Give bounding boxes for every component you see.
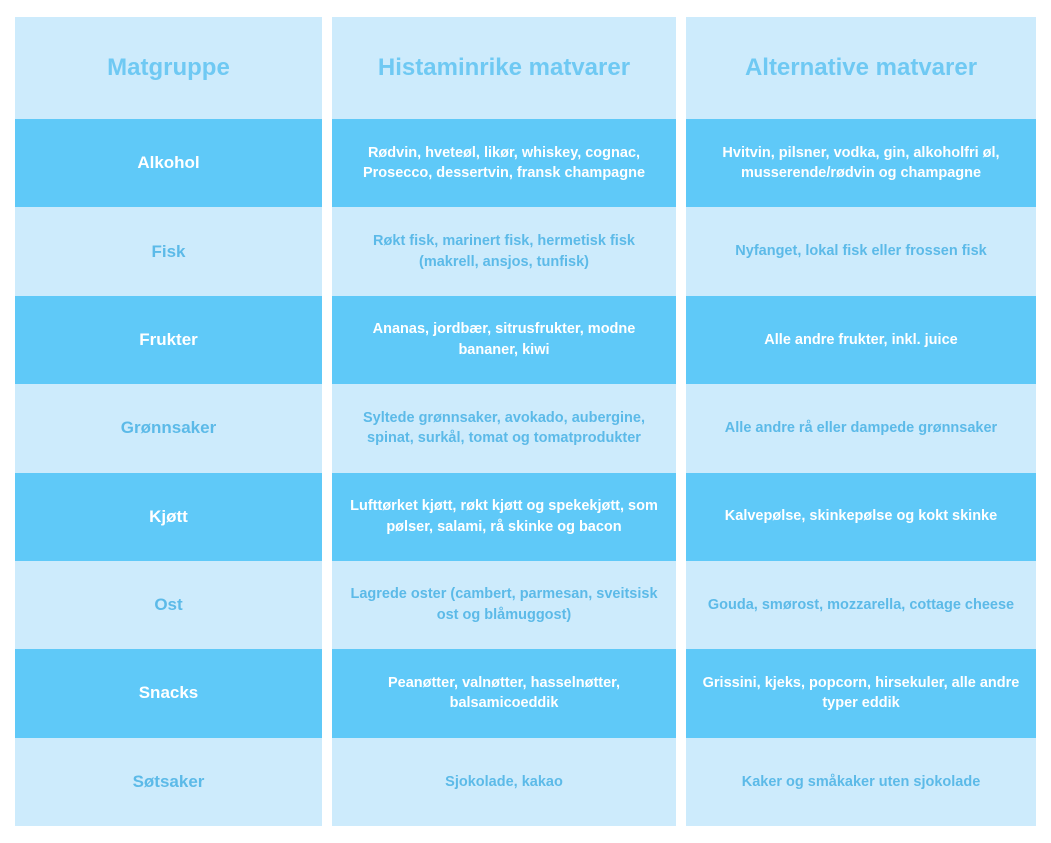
cell-alternative-snacks: Grissini, kjeks, popcorn, hirsekuler, al… [686, 649, 1036, 737]
cell-histamine-fisk: Røkt fisk, marinert fisk, hermetisk fisk… [332, 207, 676, 295]
cell-alternative-gronnsaker: Alle andre rå eller dampede grønnsaker [686, 384, 1036, 472]
cell-histamine-sotsaker: Sjokolade, kakao [332, 738, 676, 826]
histamine-food-table: Matgruppe Alkohol Fisk Frukter Grønnsake… [15, 17, 1036, 826]
column-alternative-matvarer: Alternative matvarer Hvitvin, pilsner, v… [686, 17, 1036, 826]
cell-histamine-gronnsaker: Syltede grønnsaker, avokado, aubergine, … [332, 384, 676, 472]
cell-alternative-ost: Gouda, smørost, mozzarella, cottage chee… [686, 561, 1036, 649]
column-header-histaminrike-matvarer: Histaminrike matvarer [332, 17, 676, 119]
cell-alternative-kjott: Kalvepølse, skinkepølse og kokt skinke [686, 473, 1036, 561]
cell-histamine-kjott: Lufttørket kjøtt, røkt kjøtt og spekekjø… [332, 473, 676, 561]
cell-group-kjott: Kjøtt [15, 473, 322, 561]
cell-group-ost: Ost [15, 561, 322, 649]
cell-histamine-frukter: Ananas, jordbær, sitrusfrukter, modne ba… [332, 296, 676, 384]
cell-group-fisk: Fisk [15, 207, 322, 295]
cell-group-frukter: Frukter [15, 296, 322, 384]
cell-alternative-sotsaker: Kaker og småkaker uten sjokolade [686, 738, 1036, 826]
cell-group-snacks: Snacks [15, 649, 322, 737]
cell-histamine-ost: Lagrede oster (cambert, parmesan, sveits… [332, 561, 676, 649]
cell-group-alkohol: Alkohol [15, 119, 322, 207]
column-header-alternative-matvarer: Alternative matvarer [686, 17, 1036, 119]
column-header-matgruppe: Matgruppe [15, 17, 322, 119]
cell-group-sotsaker: Søtsaker [15, 738, 322, 826]
column-matgruppe: Matgruppe Alkohol Fisk Frukter Grønnsake… [15, 17, 322, 826]
cell-histamine-alkohol: Rødvin, hveteøl, likør, whiskey, cognac,… [332, 119, 676, 207]
cell-alternative-alkohol: Hvitvin, pilsner, vodka, gin, alkoholfri… [686, 119, 1036, 207]
cell-histamine-snacks: Peanøtter, valnøtter, hasselnøtter, bals… [332, 649, 676, 737]
cell-alternative-frukter: Alle andre frukter, inkl. juice [686, 296, 1036, 384]
cell-alternative-fisk: Nyfanget, lokal fisk eller frossen fisk [686, 207, 1036, 295]
cell-group-gronnsaker: Grønnsaker [15, 384, 322, 472]
column-histaminrike-matvarer: Histaminrike matvarer Rødvin, hveteøl, l… [332, 17, 676, 826]
